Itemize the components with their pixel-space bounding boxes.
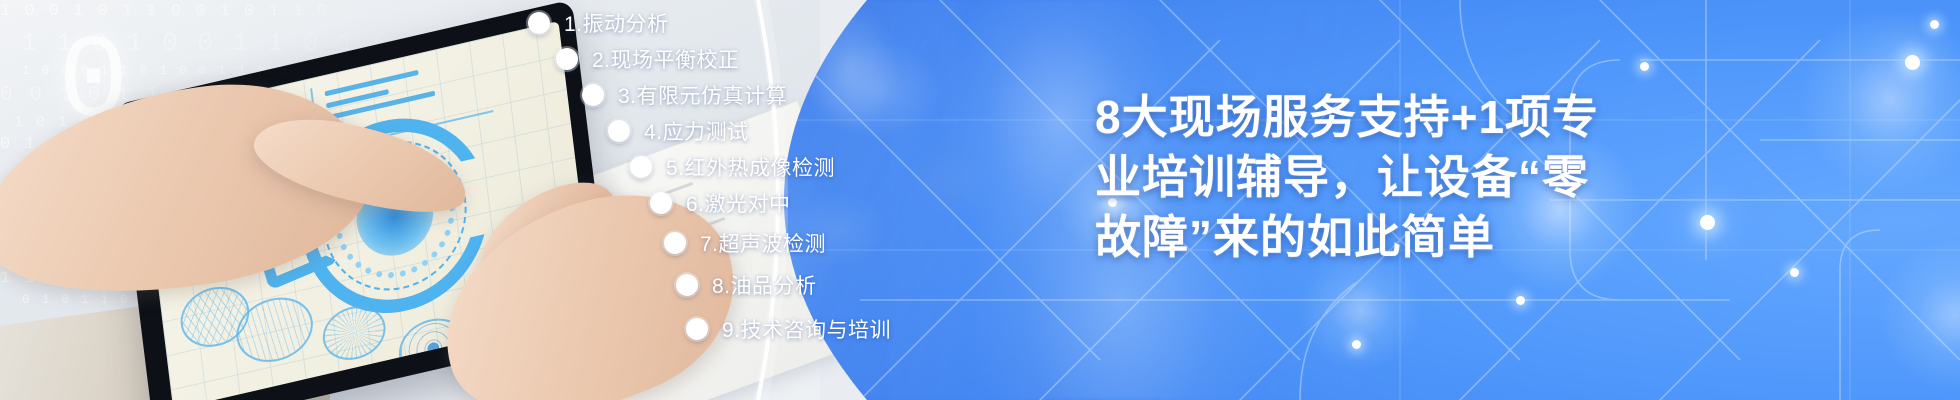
bullet-dot-icon <box>630 156 652 178</box>
service-item-1[interactable]: 1.振动分析 <box>528 8 669 38</box>
headline: 8大现场服务支持+1项专 业培训辅导，让设备“零 故障”来的如此简单 <box>1095 88 1615 267</box>
service-item-label: 9.技术咨询与培训 <box>722 314 891 344</box>
service-item-2[interactable]: 2.现场平衡校正 <box>556 44 740 74</box>
bullet-dot-icon <box>676 274 698 296</box>
service-item-label: 2.现场平衡校正 <box>592 44 740 74</box>
service-item-8[interactable]: 8.油品分析 <box>676 270 817 300</box>
service-list: 1.振动分析 2.现场平衡校正 3.有限元仿真计算 4.应力测试 5.红外热成像… <box>0 0 1960 400</box>
bullet-dot-icon <box>556 48 578 70</box>
service-item-9[interactable]: 9.技术咨询与培训 <box>686 314 891 344</box>
bullet-dot-icon <box>528 12 550 34</box>
bullet-dot-icon <box>608 120 630 142</box>
service-item-5[interactable]: 5.红外热成像检测 <box>630 152 835 182</box>
service-item-label: 6.激光对中 <box>686 188 791 218</box>
service-item-3[interactable]: 3.有限元仿真计算 <box>582 80 787 110</box>
bullet-dot-icon <box>582 84 604 106</box>
service-item-label: 5.红外热成像检测 <box>666 152 835 182</box>
bullet-dot-icon <box>664 232 686 254</box>
service-item-4[interactable]: 4.应力测试 <box>608 116 749 146</box>
headline-line-3: 故障”来的如此简单 <box>1095 208 1615 268</box>
service-banner: 1 0 0 1 0 1 1 0 0 1 0 1 1 0 0 1 1 0 1 0 … <box>0 0 1960 400</box>
service-item-7[interactable]: 7.超声波检测 <box>664 228 826 258</box>
service-item-label: 8.油品分析 <box>712 270 817 300</box>
service-item-6[interactable]: 6.激光对中 <box>650 188 791 218</box>
headline-line-2: 业培训辅导，让设备“零 <box>1095 148 1615 208</box>
bullet-dot-icon <box>650 192 672 214</box>
service-item-label: 1.振动分析 <box>564 8 669 38</box>
bullet-dot-icon <box>686 318 708 340</box>
headline-line-1: 8大现场服务支持+1项专 <box>1095 88 1615 148</box>
service-item-label: 3.有限元仿真计算 <box>618 80 787 110</box>
service-item-label: 4.应力测试 <box>644 116 749 146</box>
service-item-label: 7.超声波检测 <box>700 228 826 258</box>
